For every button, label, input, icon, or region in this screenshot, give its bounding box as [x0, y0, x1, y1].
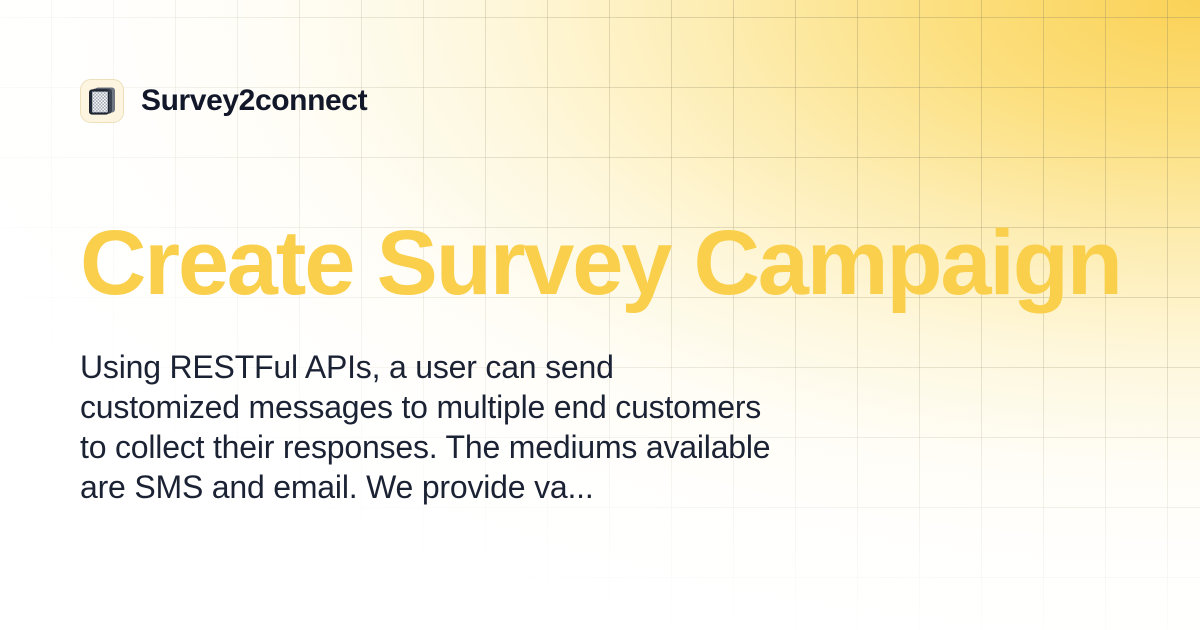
- brand-logo-badge: [80, 79, 124, 123]
- card-content: Survey2connect Create Survey Campaign Us…: [0, 0, 1200, 630]
- page-description: Using RESTFul APIs, a user can send cust…: [80, 347, 780, 507]
- og-preview-card: Survey2connect Create Survey Campaign Us…: [0, 0, 1200, 630]
- page-title: Create Survey Campaign: [80, 216, 1130, 312]
- checkerboard-placeholder-icon: [88, 86, 116, 116]
- brand-name: Survey2connect: [141, 86, 367, 116]
- brand-lockup: Survey2connect: [80, 79, 367, 123]
